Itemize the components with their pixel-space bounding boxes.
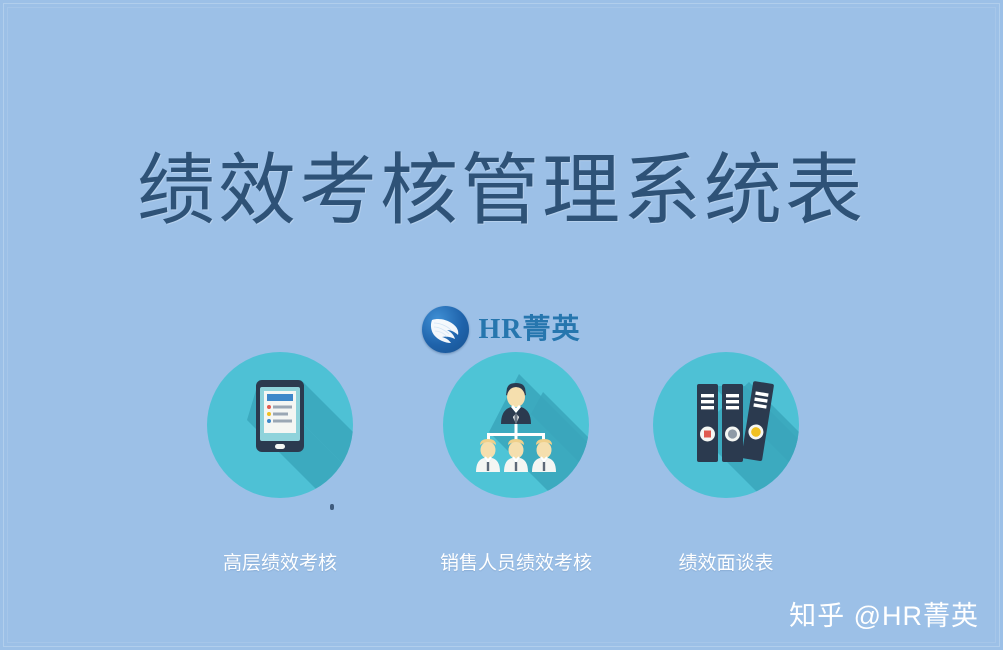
hr-elite-bird-logo-icon <box>422 306 469 353</box>
watermark: 知乎 @HR菁英 <box>789 594 979 633</box>
icon-tile-2[interactable] <box>443 352 589 498</box>
icon-tile-1[interactable] <box>207 352 353 498</box>
icon-caption-2: 销售人员绩效考核 <box>423 548 609 575</box>
icon-tile-3[interactable] <box>653 352 799 498</box>
tablet-checklist-icon <box>207 352 353 498</box>
dust-speck-artifact <box>330 504 334 510</box>
page-title: 绩效考核管理系统表 <box>0 128 1003 240</box>
icon-row <box>0 352 1003 502</box>
brand-logo: HR菁英 <box>0 306 1003 353</box>
icon-caption-3: 绩效面谈表 <box>653 548 799 575</box>
icon-caption-1: 高层绩效考核 <box>207 548 353 575</box>
brand-logo-text: HR菁英 <box>478 316 580 344</box>
org-chart-people-icon <box>443 352 589 498</box>
binders-folders-icon <box>653 352 799 498</box>
slide-canvas: 绩效考核管理系统表 HR菁英 <box>0 0 1003 650</box>
